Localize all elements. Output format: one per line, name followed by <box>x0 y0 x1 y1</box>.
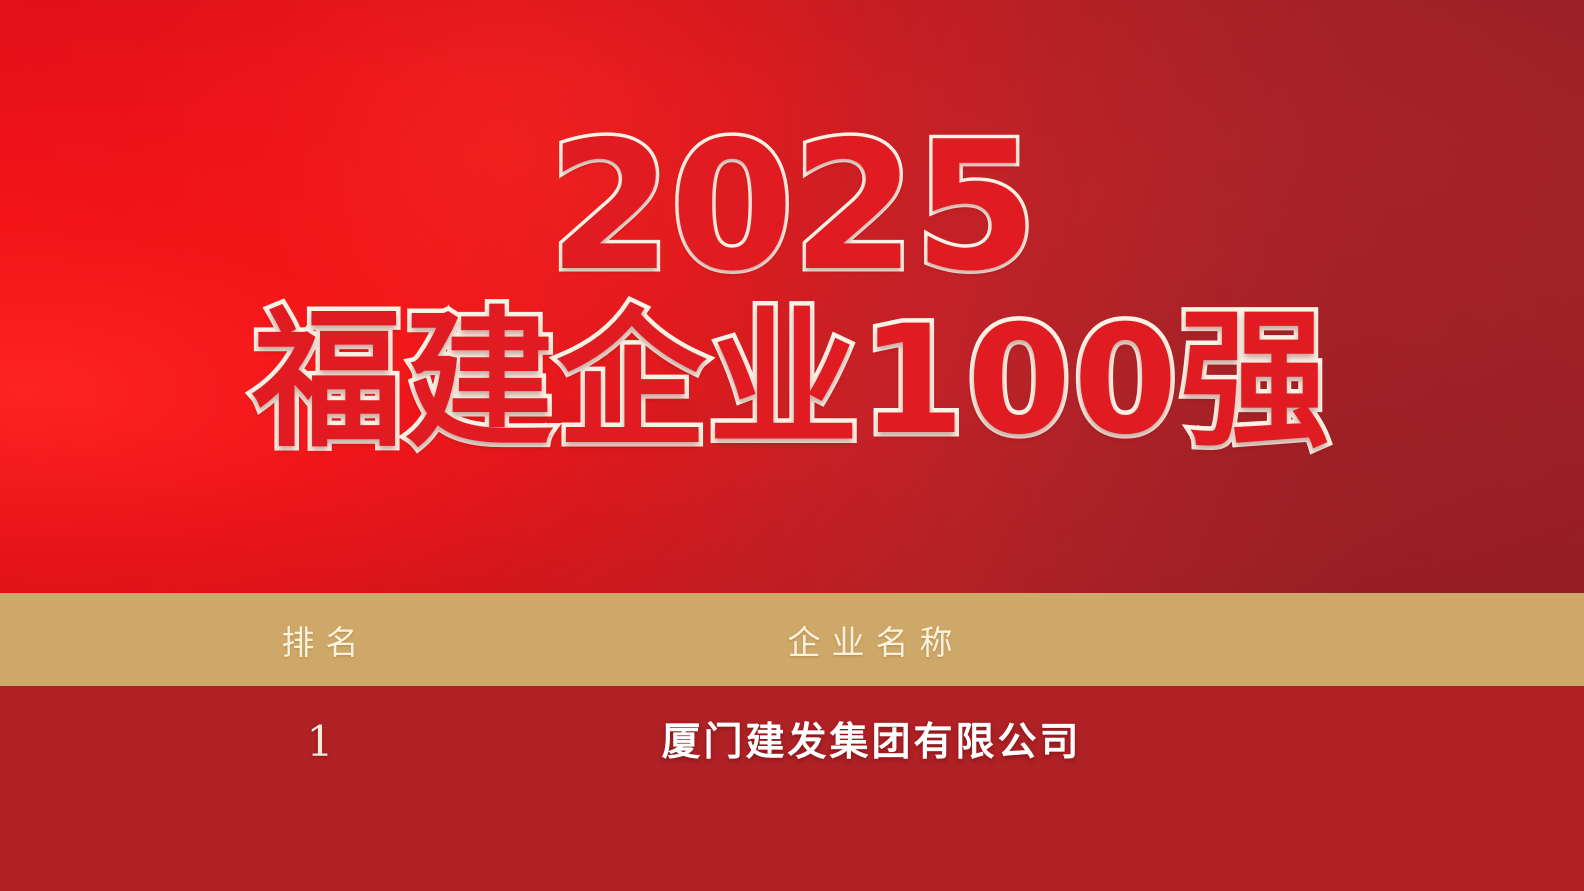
column-header-name: 企业名称 <box>640 616 1100 664</box>
cell-company-name: 厦门建发集团有限公司 <box>640 723 1100 762</box>
cell-rank: 1 <box>0 721 640 763</box>
table-row: 1 厦门建发集团有限公司 <box>0 686 1584 798</box>
table-body: 1 厦门建发集团有限公司 <box>0 686 1584 891</box>
column-header-rank-label: 排名 <box>271 616 370 664</box>
ranking-poster: 2025 福建企业100强 排名 企业名称 1 厦门建发集团有限公司 <box>0 0 1584 891</box>
page-title: 福建企业100强 <box>0 300 1584 462</box>
table-header-row: 排名 企业名称 <box>0 593 1584 686</box>
column-header-name-label: 企业名称 <box>777 616 964 664</box>
year-title: 2025 <box>0 118 1584 296</box>
column-header-rank: 排名 <box>0 616 640 664</box>
